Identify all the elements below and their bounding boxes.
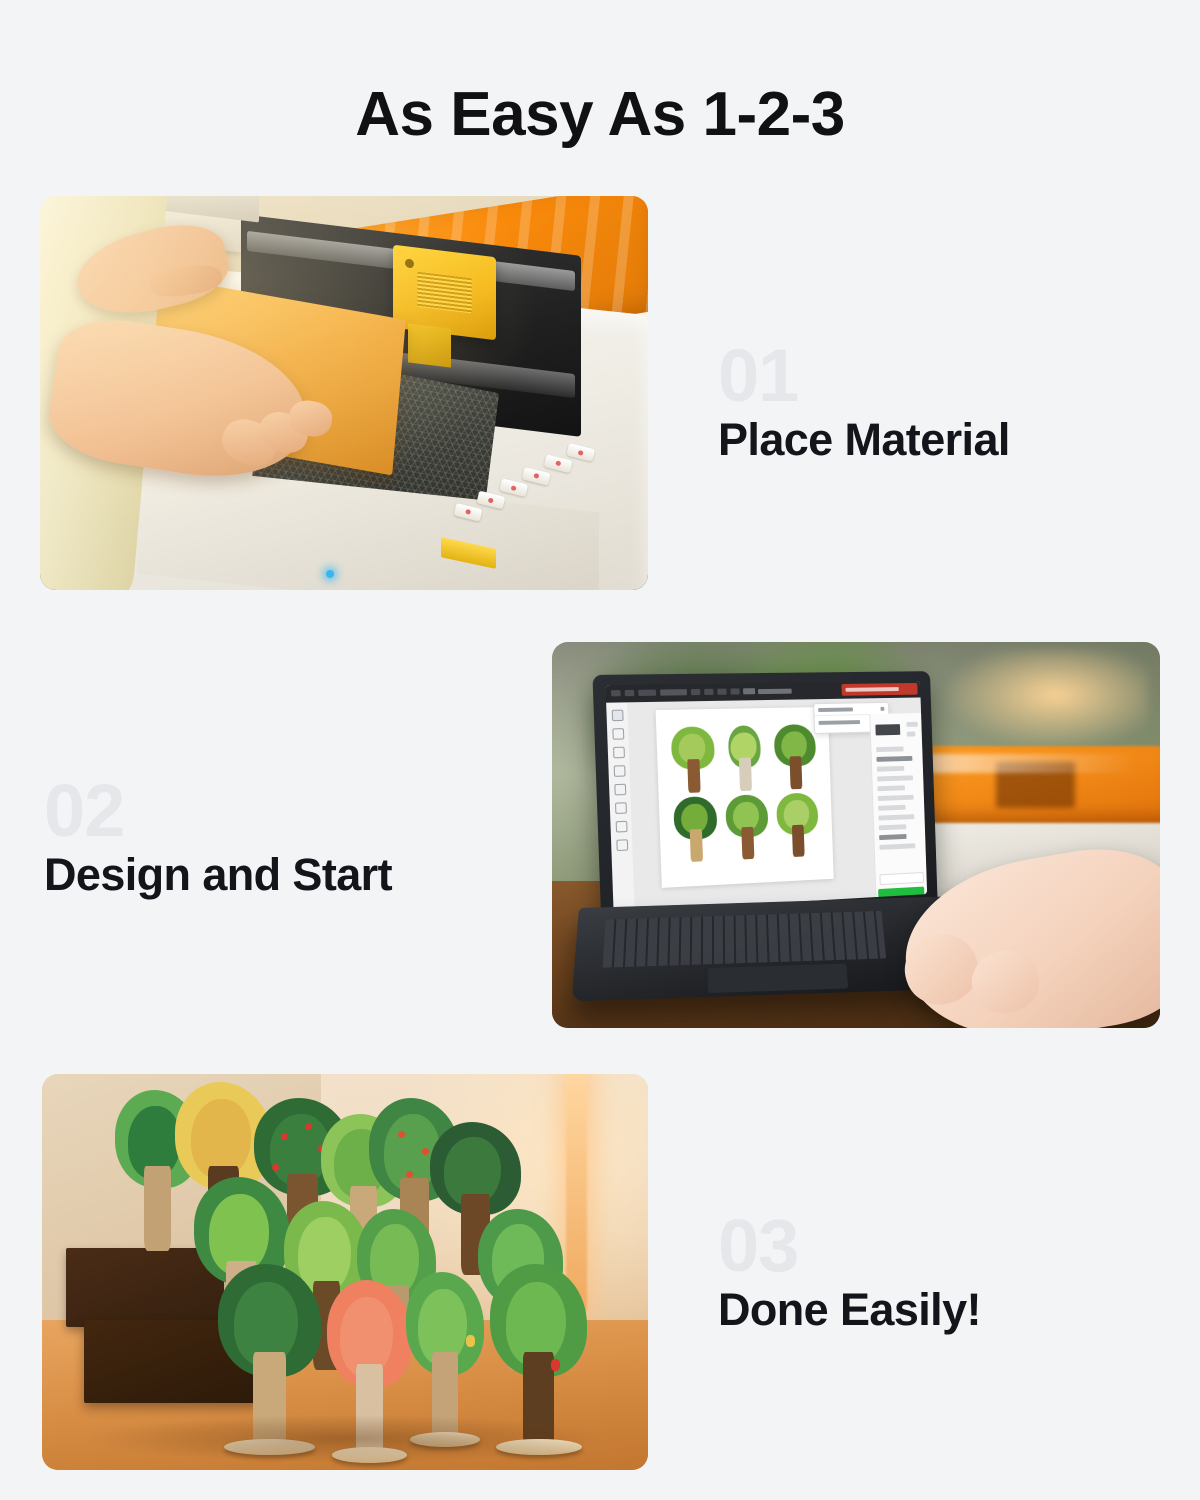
step-3-text: 03 Done Easily! (718, 1215, 981, 1339)
step-1-image (40, 196, 648, 590)
step-1-label: Place Material (718, 411, 1010, 469)
promo-page: As Easy As 1-2-3 (0, 0, 1200, 1500)
step-1-number: 01 (718, 345, 1010, 407)
tree-design (719, 724, 770, 793)
page-title: As Easy As 1-2-3 (0, 79, 1200, 151)
tree-design (721, 793, 772, 862)
wooden-tree (406, 1272, 485, 1438)
step-3-label: Done Easily! (718, 1281, 981, 1339)
step-1-text: 01 Place Material (718, 345, 1010, 469)
step-2-text: 02 Design and Start (44, 780, 392, 904)
step-3-image (42, 1074, 648, 1470)
tree-design (770, 723, 820, 791)
software-properties-panel (869, 713, 926, 904)
tree-design (667, 725, 719, 794)
step-2-label: Design and Start (44, 846, 392, 904)
laptop-screen (592, 671, 938, 922)
tree-design (772, 791, 822, 860)
step-2-image (552, 642, 1160, 1028)
topbar-alert-badge (841, 683, 917, 696)
step-2-number: 02 (44, 780, 392, 842)
step-3-number: 03 (718, 1215, 981, 1277)
tree-design (669, 795, 721, 865)
software-canvas (627, 698, 926, 911)
framing-button (879, 871, 923, 885)
